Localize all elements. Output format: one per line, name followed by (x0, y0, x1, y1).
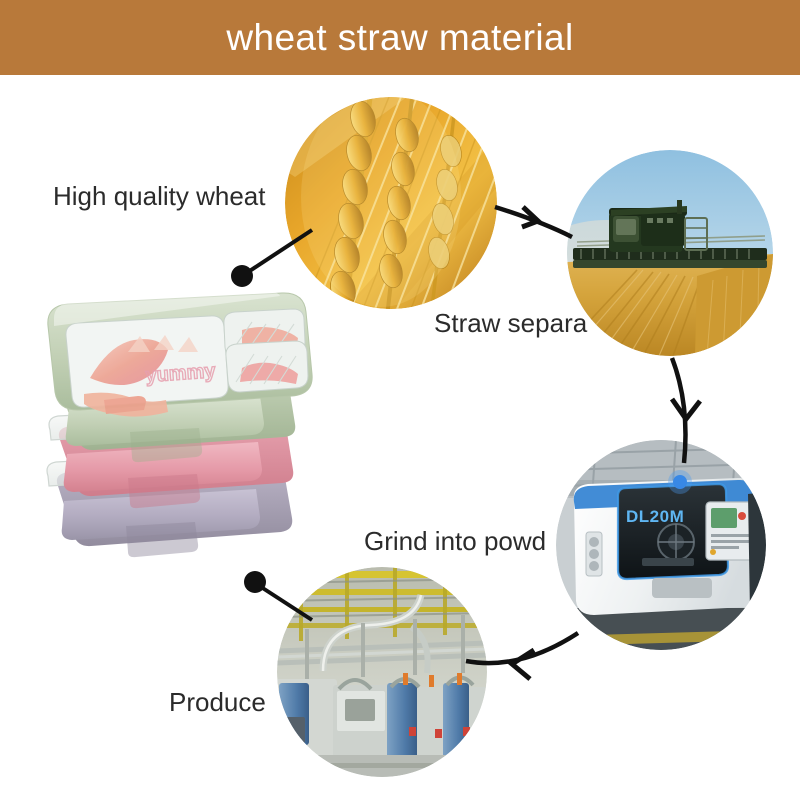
page-title: wheat straw material (226, 19, 573, 56)
arrow-wheat-to-harvester (495, 207, 572, 237)
leader-dot-wheat (231, 265, 253, 287)
step-label-grind-into-powder: Grind into powd (364, 528, 546, 554)
step-image-straw-separation[interactable] (567, 150, 773, 356)
step-label-produce: Produce (169, 689, 266, 715)
step-image-high-quality-wheat[interactable] (285, 97, 497, 309)
step-label-high-quality-wheat: High quality wheat (53, 183, 265, 209)
step-image-produce[interactable] (277, 567, 487, 777)
infographic-stage: yummy (0, 75, 800, 800)
step-image-grind-into-powder[interactable]: DL20M (556, 440, 766, 650)
step-label-straw-separation: Straw separa (434, 310, 587, 336)
product-photo-lunch-boxes: yummy (18, 290, 344, 580)
header-banner: wheat straw material (0, 0, 800, 75)
